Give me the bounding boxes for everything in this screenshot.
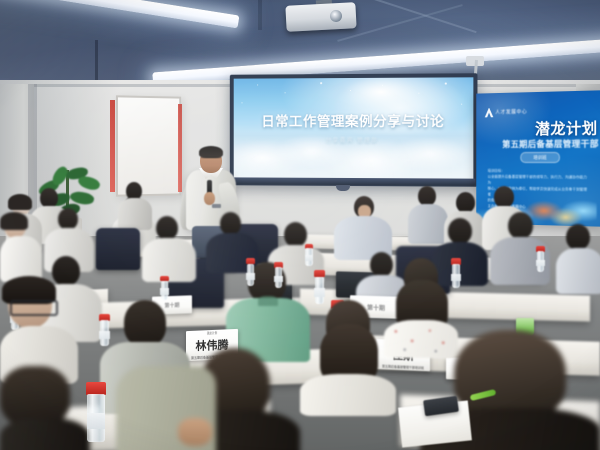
foreground-attendee-sleeve	[96, 366, 216, 450]
water-bottle	[314, 270, 325, 304]
chair	[96, 228, 140, 270]
banner-logo-text: 人才发展中心	[495, 108, 527, 116]
foreground-attendee	[0, 366, 90, 450]
banner-body-line: 培训目标：	[488, 168, 591, 175]
attendee	[332, 196, 394, 260]
attendee-glasses	[0, 276, 78, 380]
water-bottle	[86, 382, 106, 442]
glasses-icon	[201, 157, 221, 162]
ceiling-projector	[285, 2, 356, 32]
banner-pill-label: 培训班	[520, 152, 560, 163]
water-bottle	[274, 262, 283, 288]
banner-subtitle: 第五期后备基层管理干部	[482, 137, 599, 150]
banner-body-line: 以全面提升后备基层管理干部的领导力、执行力、沟通协作能力为	[488, 174, 591, 187]
wristwatch-icon	[212, 204, 221, 208]
glasses-icon	[10, 300, 58, 316]
attendee	[556, 224, 600, 290]
screen-bottom-bar	[232, 177, 476, 185]
water-bottle	[160, 276, 169, 300]
projection-screen: 日常工作管理案例分享与讨论 分享嘉宾 管理部	[230, 73, 478, 187]
slide-subtitle: 分享嘉宾 管理部	[234, 136, 474, 144]
attendee	[300, 300, 396, 410]
whiteboard-frame-accent	[110, 100, 115, 192]
water-bottle	[536, 246, 545, 272]
placard-top-note: 潜龙计划	[186, 330, 238, 336]
classroom-photo: 日常工作管理案例分享与讨论 分享嘉宾 管理部 人才发展中心 潜龙计划 第五期后备…	[0, 0, 600, 450]
banner-logo: 人才发展中心	[485, 106, 529, 118]
water-bottle	[246, 258, 255, 286]
banner-title: 潜龙计划	[487, 117, 598, 139]
attendee	[142, 216, 196, 278]
attendee-mint-polo	[226, 262, 310, 358]
company-logo-icon	[485, 107, 494, 117]
water-bottle	[305, 244, 313, 266]
slide-title: 日常工作管理案例分享与讨论	[234, 110, 474, 130]
ceiling-beam	[258, 0, 262, 30]
projected-slide: 日常工作管理案例分享与讨论 分享嘉宾 管理部	[234, 77, 474, 178]
